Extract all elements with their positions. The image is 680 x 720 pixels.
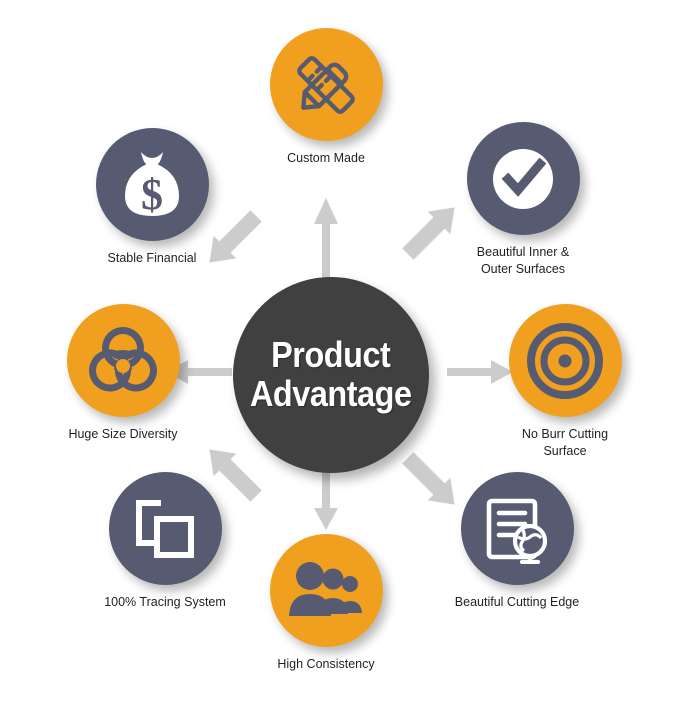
node-label: Beautiful Inner & Outer Surfaces — [448, 244, 598, 277]
target-bullseye-icon — [527, 323, 603, 399]
node-beautiful-inner-outer-surfaces[interactable]: Beautiful Inner & Outer Surfaces — [448, 122, 598, 277]
center-hub-label: Product Advantage — [250, 336, 412, 414]
node-bubble[interactable]: $ — [96, 128, 209, 241]
node-label: 100% Tracing System — [90, 594, 240, 611]
node-bubble[interactable] — [270, 534, 383, 647]
node-label: Custom Made — [251, 150, 401, 167]
copy-squares-icon — [131, 495, 199, 563]
node-bubble[interactable] — [467, 122, 580, 235]
check-circle-icon — [486, 142, 560, 216]
product-advantage-diagram: Product Advantage — [0, 0, 680, 720]
node-label: No Burr Cutting Surface — [490, 426, 640, 459]
node-bubble[interactable] — [509, 304, 622, 417]
node-label: Beautiful Cutting Edge — [442, 594, 592, 611]
node-bubble[interactable] — [270, 28, 383, 141]
node-label: High Consistency — [251, 656, 401, 673]
node-label: Huge Size Diversity — [48, 426, 198, 443]
people-group-icon — [288, 561, 364, 621]
node-tracing-system[interactable]: 100% Tracing System — [90, 472, 240, 611]
svg-text:$: $ — [141, 170, 163, 219]
node-custom-made[interactable]: Custom Made — [251, 28, 401, 167]
node-huge-size-diversity[interactable]: Huge Size Diversity — [48, 304, 198, 443]
node-high-consistency[interactable]: High Consistency — [251, 534, 401, 673]
node-no-burr-cutting-surface[interactable]: No Burr Cutting Surface — [490, 304, 640, 459]
arrow-up — [314, 194, 338, 282]
node-beautiful-cutting-edge[interactable]: Beautiful Cutting Edge — [442, 472, 592, 611]
center-hub[interactable]: Product Advantage — [233, 277, 429, 473]
biohazard-icon — [83, 321, 163, 401]
node-stable-financial[interactable]: $ Stable Financial — [77, 128, 227, 267]
arrow-down — [314, 466, 338, 532]
pencil-ruler-icon — [290, 49, 362, 121]
node-bubble[interactable] — [67, 304, 180, 417]
node-bubble[interactable] — [109, 472, 222, 585]
node-bubble[interactable] — [461, 472, 574, 585]
money-bag-icon: $ — [117, 148, 187, 222]
node-label: Stable Financial — [77, 250, 227, 267]
document-globe-icon — [482, 494, 552, 564]
